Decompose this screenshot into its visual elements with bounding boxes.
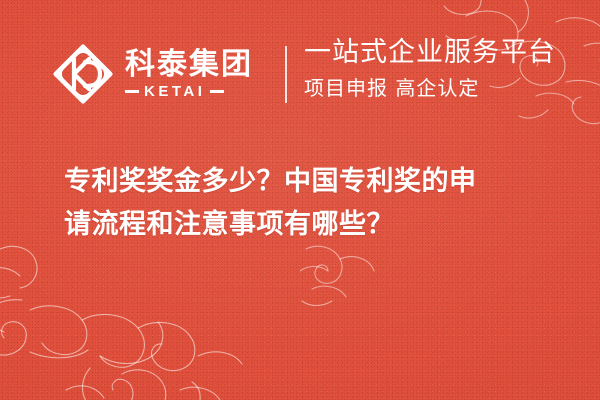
brand-name-en: KETAI <box>144 84 205 99</box>
wordmark-dash-right <box>210 90 224 93</box>
brand-wordmark: 科泰集团 KETAI <box>125 49 253 99</box>
headline-line-1: 专利奖奖金多少？中国专利奖的申 <box>64 160 569 203</box>
banner-header: 科泰集团 KETAI 一站式企业服务平台 项目申报 高企认定 <box>0 36 600 112</box>
brand-name-cn: 科泰集团 <box>125 49 253 81</box>
wordmark-dash-left <box>125 90 139 93</box>
page-title: 专利奖奖金多少？中国专利奖的申 请流程和注意事项有哪些？ <box>64 160 569 246</box>
promo-banner: 科泰集团 KETAI 一站式企业服务平台 项目申报 高企认定 专利奖奖金多少？中… <box>0 0 600 400</box>
vertical-divider <box>285 46 287 103</box>
tagline-sub: 项目申报 高企认定 <box>304 76 556 100</box>
cloud-pattern-icon-middle <box>300 245 420 330</box>
cloud-pattern-icon-bottom-left <box>0 240 300 400</box>
brand-logo: 科泰集团 KETAI <box>52 36 253 112</box>
tagline-block: 一站式企业服务平台 项目申报 高企认定 <box>304 37 556 100</box>
headline-line-2: 请流程和注意事项有哪些？ <box>64 203 569 246</box>
brand-name-en-row: KETAI <box>125 84 253 99</box>
ketai-diamond-kd-monogram-logo-icon <box>52 43 114 105</box>
tagline-main: 一站式企业服务平台 <box>304 37 556 68</box>
